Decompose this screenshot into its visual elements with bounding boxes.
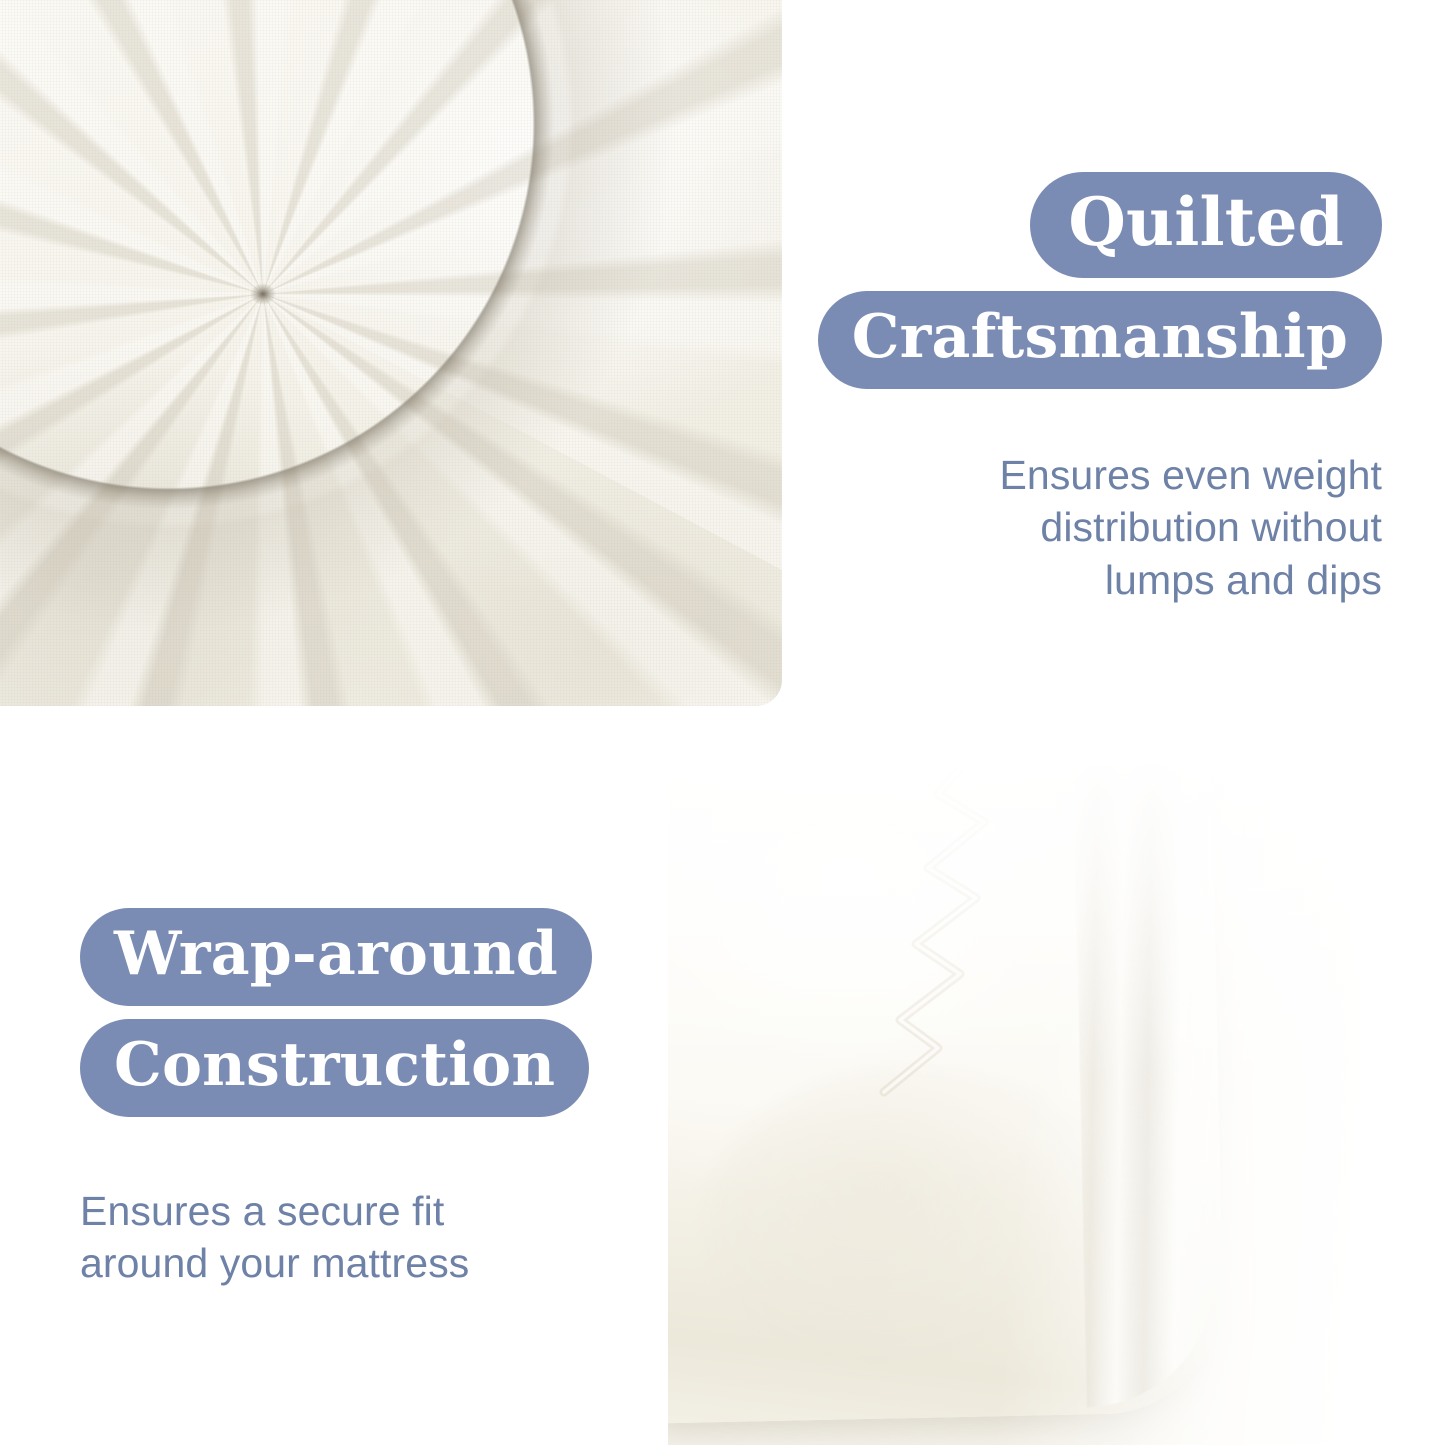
feature-block-wrap-around-construction: Wrap-around Construction Ensures a secur… xyxy=(80,908,592,1290)
headline-pill-wrap-around: Wrap-around xyxy=(80,908,592,1006)
headline-row-2: Craftsmanship xyxy=(818,291,1382,389)
feature-caption-wrap-around: Ensures a secure fit around your mattres… xyxy=(80,1185,592,1290)
headline-pill-quilted: Quilted xyxy=(1030,172,1382,278)
headline-row-3: Wrap-around xyxy=(80,908,592,1006)
feature-block-quilted-craftsmanship: Quilted Craftsmanship Ensures even weigh… xyxy=(818,172,1382,606)
feature-caption-quilted: Ensures even weight distribution without… xyxy=(818,449,1382,606)
product-feature-panel: Quilted Craftsmanship Ensures even weigh… xyxy=(0,0,1445,1445)
headline-pill-construction: Construction xyxy=(80,1019,589,1117)
headline-pill-craftsmanship: Craftsmanship xyxy=(818,291,1382,389)
headline-row-4: Construction xyxy=(80,1019,592,1117)
quilted-fabric-photo xyxy=(0,0,782,706)
headline-row-1: Quilted xyxy=(818,172,1382,278)
mattress-corner-photo xyxy=(668,738,1445,1445)
